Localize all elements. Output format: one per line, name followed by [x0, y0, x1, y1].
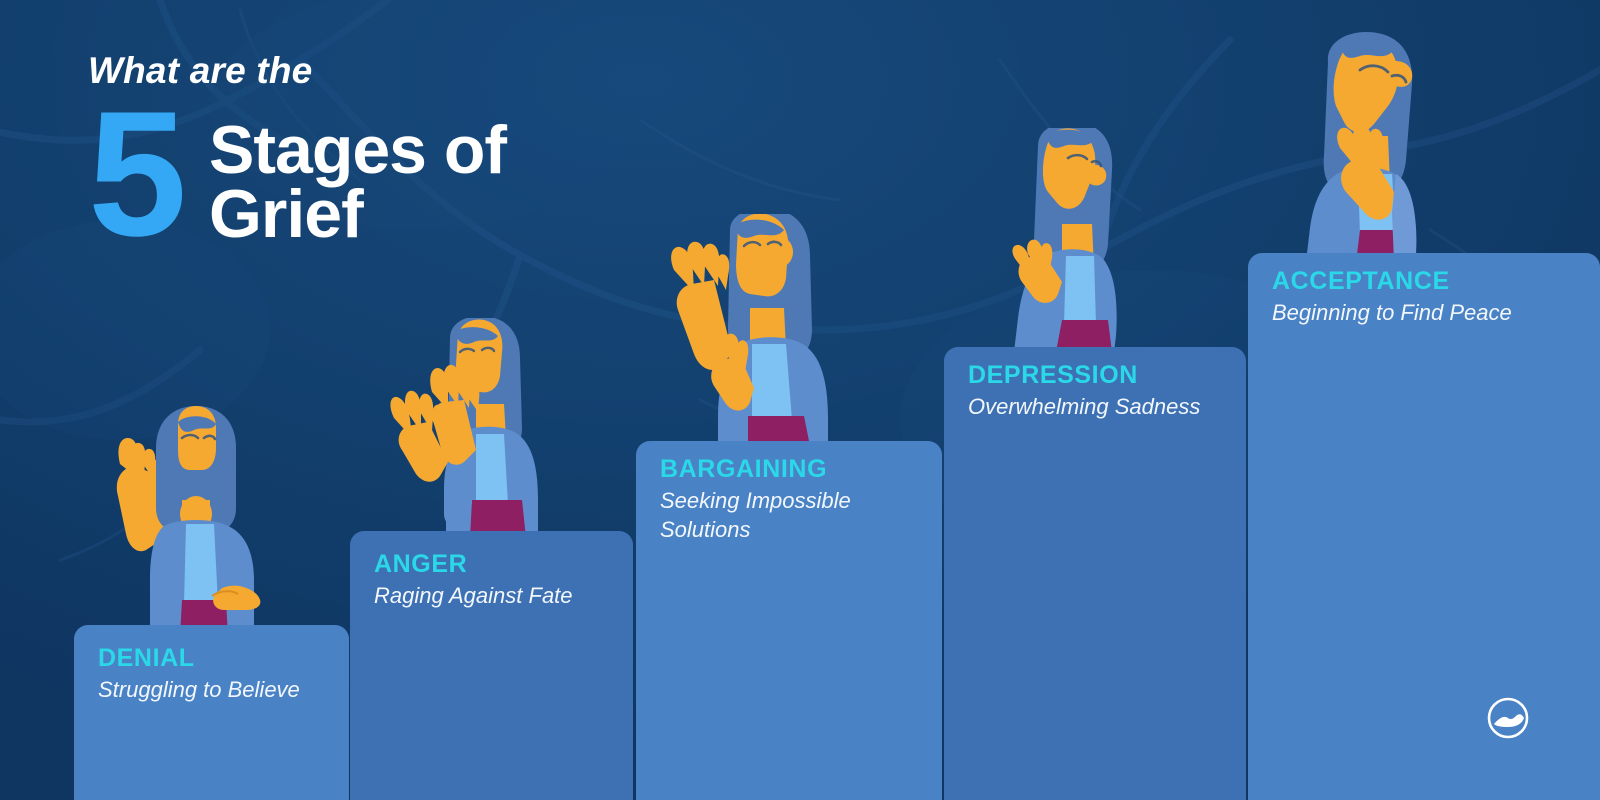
stage-description-anger: Raging Against Fate	[374, 581, 619, 610]
stage-text-acceptance: ACCEPTANCE Beginning to Find Peace	[1272, 268, 1586, 327]
headline-block: What are the 5 Stages of Grief	[88, 52, 708, 247]
mountain-circle-logo-icon	[1486, 696, 1530, 740]
stage-description-acceptance: Beginning to Find Peace	[1272, 298, 1586, 327]
headline-title: Stages of Grief	[209, 105, 506, 247]
figure-bargaining	[652, 214, 828, 446]
headline-title-line1: Stages of	[209, 119, 506, 183]
stage-text-bargaining: BARGAINING Seeking Impossible Solutions	[660, 456, 928, 544]
figure-acceptance	[1288, 32, 1428, 262]
stage-bar-depression[interactable]: DEPRESSION Overwhelming Sadness	[944, 347, 1246, 800]
headline-kicker: What are the	[88, 52, 708, 89]
figure-depression	[992, 128, 1122, 352]
stage-title-denial: DENIAL	[98, 645, 335, 671]
figure-anger	[388, 318, 548, 538]
stage-text-anger: ANGER Raging Against Fate	[374, 551, 619, 610]
stage-text-depression: DEPRESSION Overwhelming Sadness	[968, 362, 1232, 421]
headline-number: 5	[88, 105, 181, 244]
stage-description-denial: Struggling to Believe	[98, 675, 335, 704]
stage-title-acceptance: ACCEPTANCE	[1272, 268, 1586, 294]
stage-bar-anger[interactable]: ANGER Raging Against Fate	[350, 531, 633, 800]
stage-bar-bargaining[interactable]: BARGAINING Seeking Impossible Solutions	[636, 441, 942, 800]
stage-description-depression: Overwhelming Sadness	[968, 392, 1232, 421]
headline-title-line2: Grief	[209, 183, 506, 247]
stage-bar-denial[interactable]: DENIAL Struggling to Believe	[74, 625, 349, 800]
figure-denial	[86, 404, 286, 636]
stage-bar-acceptance[interactable]: ACCEPTANCE Beginning to Find Peace	[1248, 253, 1600, 800]
stage-text-denial: DENIAL Struggling to Believe	[98, 645, 335, 704]
infographic-canvas: What are the 5 Stages of Grief	[0, 0, 1600, 800]
stage-title-bargaining: BARGAINING	[660, 456, 928, 482]
stage-title-depression: DEPRESSION	[968, 362, 1232, 388]
stage-description-bargaining: Seeking Impossible Solutions	[660, 486, 928, 544]
stage-title-anger: ANGER	[374, 551, 619, 577]
